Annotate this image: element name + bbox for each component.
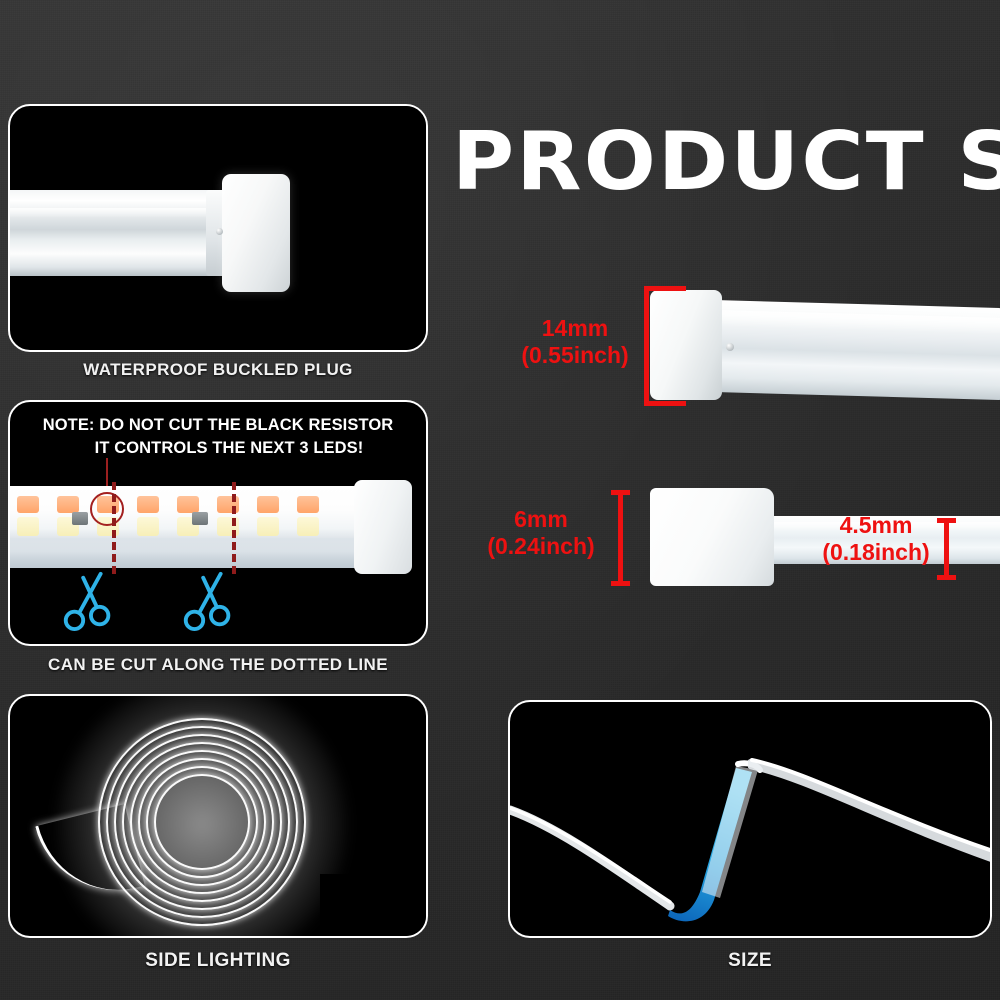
black-resistor xyxy=(192,512,208,525)
flexible-strip-right xyxy=(748,746,990,876)
size-photo xyxy=(510,702,990,936)
led-chip xyxy=(256,496,280,538)
side-lighting-photo xyxy=(10,696,426,936)
resistor-highlight-circle xyxy=(90,492,124,526)
led-chip xyxy=(216,496,240,538)
photo-dark-area xyxy=(320,874,426,936)
dimension-imperial: (0.55inch) xyxy=(500,342,650,369)
scissors-icon xyxy=(178,570,240,632)
page-title: PRODUCT SIZE xyxy=(452,116,1000,208)
panel-size xyxy=(508,700,992,938)
black-resistor xyxy=(72,512,88,525)
coiled-strip xyxy=(98,718,306,926)
dimension-bracket-14mm xyxy=(644,286,686,406)
note-line-1: NOTE: DO NOT CUT THE BLACK RESISTOR xyxy=(10,414,426,437)
panel-cut-line: NOTE: DO NOT CUT THE BLACK RESISTOR IT C… xyxy=(8,400,428,646)
infographic-stage: PRODUCT SIZE WATERPROOF BUCKLED PLUG NOT… xyxy=(0,0,1000,1000)
strip-end-cap xyxy=(354,480,412,574)
cap-vent-dot xyxy=(216,228,223,235)
cut-warning-note: NOTE: DO NOT CUT THE BLACK RESISTOR IT C… xyxy=(10,414,426,460)
dimension-end-cap-6mm xyxy=(650,488,774,586)
waterproof-end-cap xyxy=(222,174,290,292)
panel-waterproof-plug xyxy=(8,104,428,352)
panel-side-lighting xyxy=(8,694,428,938)
dimension-label-14mm: 14mm (0.55inch) xyxy=(500,315,650,368)
led-chip xyxy=(136,496,160,538)
caption-size: SIZE xyxy=(508,950,992,972)
cut-line-photo: NOTE: DO NOT CUT THE BLACK RESISTOR IT C… xyxy=(10,402,426,644)
caption-cut-line: CAN BE CUT ALONG THE DOTTED LINE xyxy=(8,655,428,675)
waterproof-plug-photo xyxy=(10,106,426,350)
caption-side-lighting: SIDE LIGHTING xyxy=(8,950,428,972)
dimension-imperial: (0.24inch) xyxy=(466,533,616,560)
dimension-bar-6mm xyxy=(618,490,623,586)
led-row xyxy=(10,496,372,544)
led-chip xyxy=(16,496,40,538)
dimension-cap-dot xyxy=(726,343,734,351)
dimension-label-4p5mm: 4.5mm (0.18inch) xyxy=(806,512,946,565)
dimension-value: 14mm xyxy=(500,315,650,342)
strip-sheen xyxy=(10,538,372,568)
dimension-strip-body-14mm xyxy=(714,300,1000,400)
cut-line-marker xyxy=(232,482,236,574)
led-strip-body xyxy=(10,486,372,568)
dimension-value: 4.5mm xyxy=(806,512,946,539)
note-line-2: IT CONTROLS THE NEXT 3 LEDS! xyxy=(10,437,426,460)
dimension-label-6mm: 6mm (0.24inch) xyxy=(466,506,616,559)
cut-line-marker xyxy=(112,482,116,574)
led-chip xyxy=(296,496,320,538)
dimension-value: 6mm xyxy=(466,506,616,533)
scissors-icon xyxy=(58,570,120,632)
photo-dark-area xyxy=(286,106,426,350)
caption-waterproof-plug: WATERPROOF BUCKLED PLUG xyxy=(8,360,428,380)
dimension-imperial: (0.18inch) xyxy=(806,539,946,566)
